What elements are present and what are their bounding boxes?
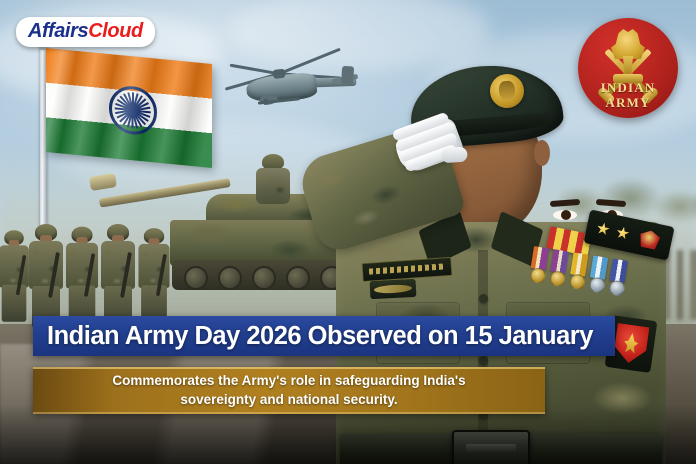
ear	[534, 140, 550, 166]
emblem-text-army: ARMY	[578, 95, 678, 111]
tank-commander	[254, 154, 290, 206]
medal-icon	[586, 256, 608, 302]
soldier-figure	[136, 228, 173, 324]
marching-soldiers	[0, 216, 184, 328]
subtitle-line-2: sovereignty and national security.	[180, 392, 397, 407]
qualification-badge-icon	[370, 279, 417, 299]
helicopter-skid-strut	[264, 99, 269, 105]
ashoka-lion-capital-icon	[611, 29, 645, 59]
soldier-figure	[63, 227, 101, 326]
soldier-figure	[98, 224, 138, 328]
subtitle-text: Commemorates the Army's role in safeguar…	[100, 372, 477, 408]
logo-text-affairs: Affairs	[28, 20, 88, 42]
medal-icon	[547, 249, 569, 295]
medal-icon	[606, 259, 628, 305]
emblem-text-indian: INDIAN	[578, 80, 678, 96]
subtitle-banner: Commemorates the Army's role in safeguar…	[33, 367, 545, 414]
page-title: Indian Army Day 2026 Observed on 15 Janu…	[33, 322, 593, 351]
affairscloud-logo[interactable]: AffairsCloud	[16, 17, 155, 47]
commander-torso	[256, 168, 290, 204]
rotor-blade	[230, 64, 280, 76]
eye-icon	[553, 210, 577, 220]
title-banner: Indian Army Day 2026 Observed on 15 Janu…	[33, 316, 615, 356]
subtitle-line-1: Commemorates the Army's role in safeguar…	[112, 373, 465, 388]
flag-fabric-shading	[46, 48, 212, 168]
shield-icon	[613, 323, 650, 365]
logo-text-cloud: Cloud	[88, 20, 143, 42]
medal-icon	[567, 252, 589, 298]
indian-army-emblem: INDIAN ARMY	[578, 18, 678, 118]
rotor-hub	[273, 69, 286, 79]
rank-star-icon	[595, 221, 610, 236]
soldier-figure	[26, 224, 66, 328]
poster-image: AffairsCloud INDIAN ARMY Indian Army Day…	[0, 0, 696, 464]
rank-insignia-icon	[638, 228, 661, 250]
rank-star-icon	[615, 225, 630, 240]
tricolor-flag	[46, 48, 212, 168]
